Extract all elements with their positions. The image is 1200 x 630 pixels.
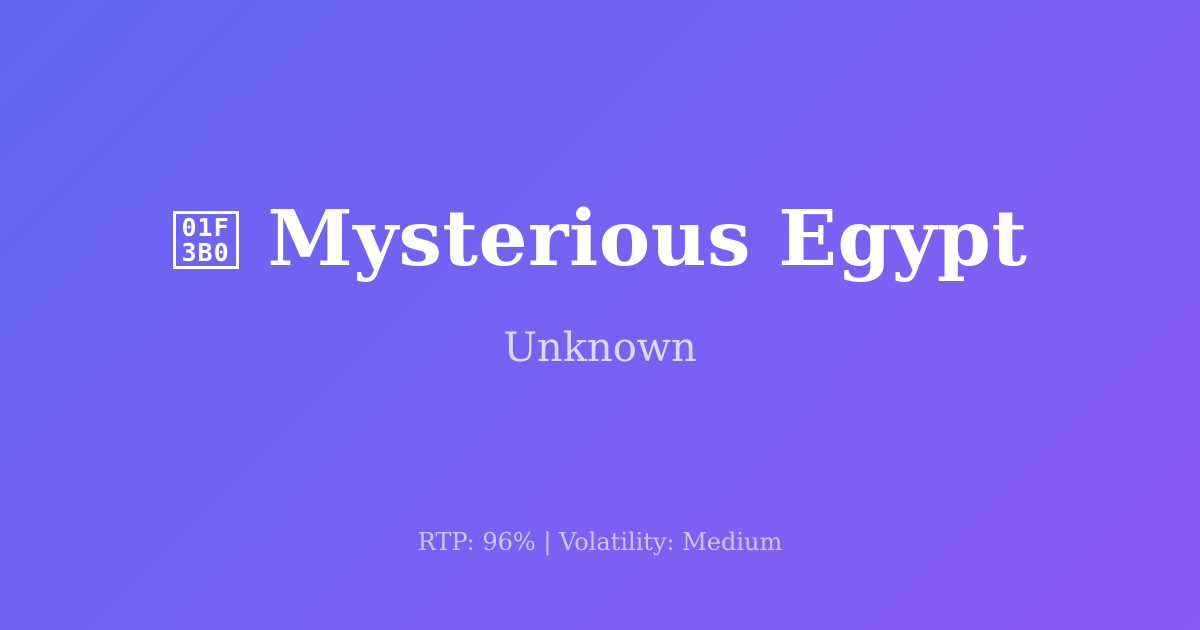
hero-block: 01F 3B0 Mysterious Egypt Unknown bbox=[0, 198, 1200, 369]
slot-machine-icon-codepoint-bottom: 3B0 bbox=[181, 240, 229, 265]
og-card: 01F 3B0 Mysterious Egypt Unknown RTP: 96… bbox=[0, 0, 1200, 630]
meta-footer: RTP: 96% | Volatility: Medium bbox=[0, 529, 1200, 555]
title-row: 01F 3B0 Mysterious Egypt bbox=[173, 198, 1028, 281]
page-subtitle: Unknown bbox=[503, 326, 697, 370]
page-title: Mysterious Egypt bbox=[268, 198, 1028, 281]
slot-machine-icon-codepoint-top: 01F bbox=[181, 215, 229, 240]
slot-machine-icon: 01F 3B0 bbox=[173, 211, 239, 269]
